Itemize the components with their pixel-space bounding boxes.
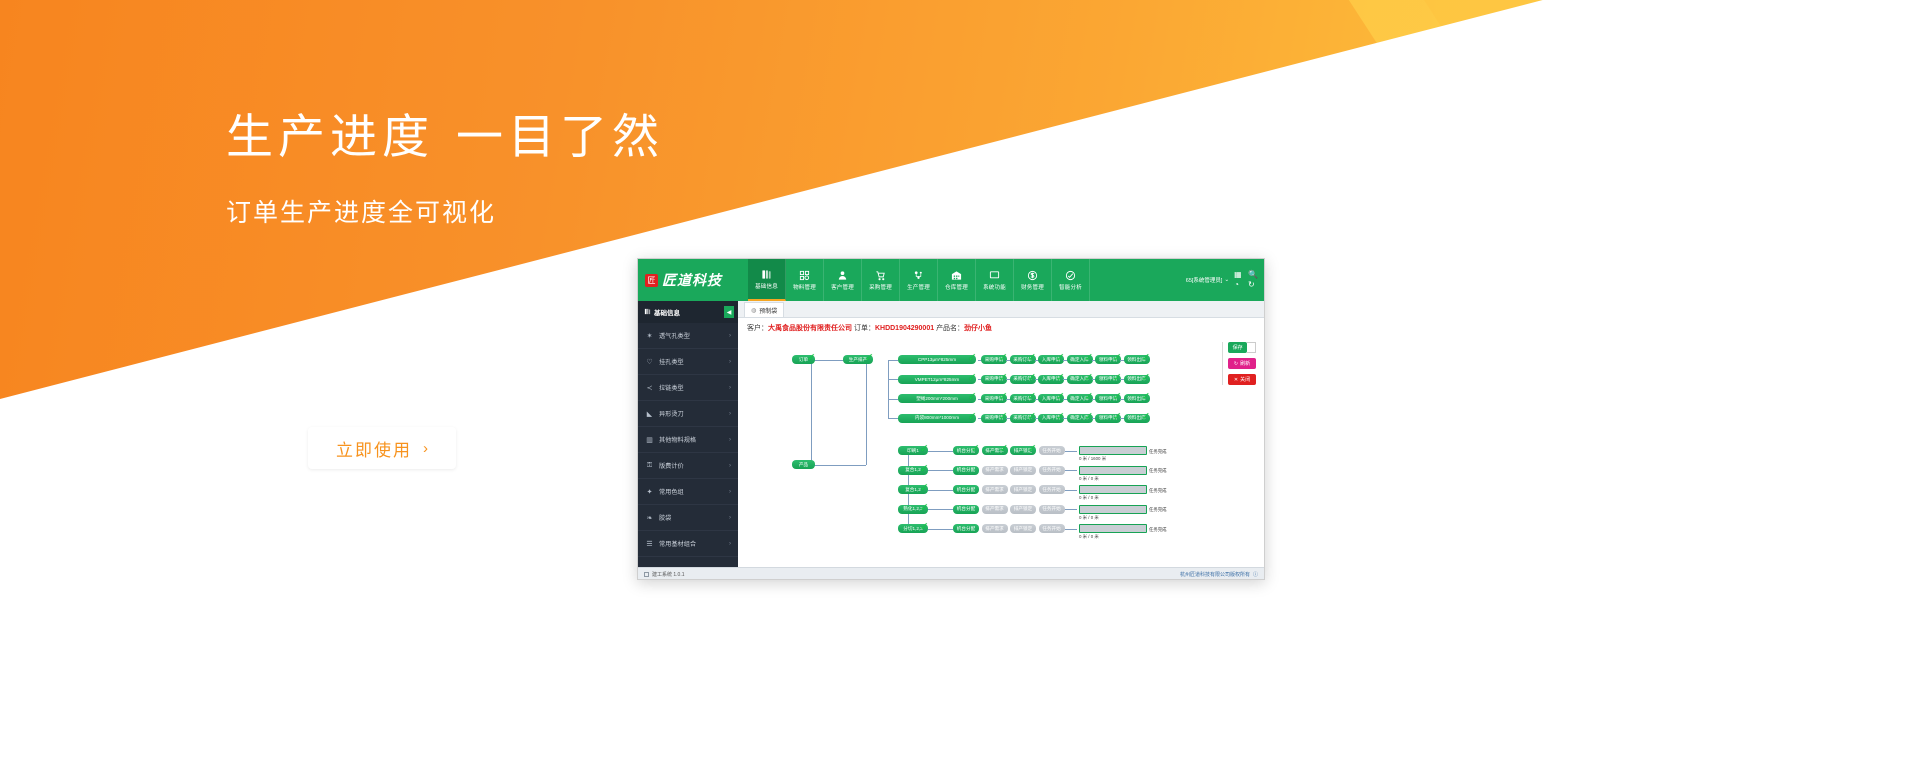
bars-icon: ▥ bbox=[645, 436, 654, 444]
flow-node-step[interactable]: 入库申请✓ bbox=[1038, 355, 1064, 364]
qrcode-icon[interactable]: ▦ bbox=[1234, 271, 1244, 279]
lock-icon: ⚿ bbox=[645, 462, 654, 470]
flow-node-label: 熟化1,2,3 bbox=[903, 506, 922, 512]
flow-node-label: 机台分配 bbox=[957, 487, 975, 493]
flow-edge bbox=[1065, 470, 1077, 471]
flow-node-label: 采购申请 bbox=[985, 415, 1003, 421]
flow-node-step[interactable]: 入库申请✓ bbox=[1038, 414, 1064, 423]
sidebar-item-lalianleixing[interactable]: ≺ 拉链类型 › bbox=[638, 375, 738, 401]
search-icon[interactable]: 🔍 bbox=[1248, 271, 1258, 279]
cta-label: 立即使用 bbox=[336, 436, 412, 461]
flow-node-label: 确定入库 bbox=[1070, 376, 1088, 382]
flow-node-step[interactable]: 排产需求✓ bbox=[982, 446, 1008, 455]
bag-icon: ❧ bbox=[645, 514, 654, 522]
flow-node-label: 产品 bbox=[799, 462, 808, 468]
flow-node-step[interactable]: 排产锁定 bbox=[1010, 524, 1036, 533]
flow-node-label: 机台分配 bbox=[957, 448, 975, 454]
nav-label: 采购管理 bbox=[869, 283, 892, 291]
flow-node-label: 排产锁定 bbox=[1014, 506, 1032, 512]
save-field[interactable] bbox=[1247, 342, 1256, 353]
check-icon: ✓ bbox=[920, 463, 929, 474]
check-icon: ✓ bbox=[968, 372, 977, 383]
flow-node-label: 领料出库 bbox=[1127, 357, 1145, 363]
flow-edge bbox=[908, 475, 909, 486]
flow-edge bbox=[928, 470, 953, 471]
progress-label: 0 米 / 0 米 bbox=[1079, 534, 1099, 540]
flow-node-step[interactable]: 任务开始 bbox=[1039, 485, 1065, 494]
chevron-down-icon: ⌄ bbox=[1224, 277, 1229, 283]
flow-node-label: 排产需求 bbox=[985, 506, 1003, 512]
flow-node-label: 内袋800mm*1000mm bbox=[915, 415, 959, 421]
close-icon: ✕ bbox=[1234, 377, 1238, 383]
status-bar: 建工系统 1.0.1 杭州匠道科技有限公司版权所有 ⓘ bbox=[638, 567, 1264, 580]
chevron-right-icon: › bbox=[729, 437, 731, 443]
nav-item-jichuxinxi[interactable]: 基础信息 bbox=[748, 259, 786, 301]
user-menu[interactable]: 65[系统管理员] ⌄ bbox=[1186, 276, 1229, 284]
blade-icon: ◣ bbox=[645, 410, 654, 418]
flow-node-label: 排产锁定 bbox=[1014, 526, 1032, 532]
nav-item-kehuguanli[interactable]: 客户管理 bbox=[824, 259, 862, 301]
flow-node-label: 入库申请 bbox=[1042, 376, 1060, 382]
task-status-label: 任务完成 bbox=[1149, 488, 1167, 494]
flow-node-label: 复合1,2 bbox=[905, 467, 921, 473]
flow-edge bbox=[888, 399, 898, 400]
nav-item-zhinengfenxi[interactable]: 智能分析 bbox=[1052, 259, 1090, 301]
user-name: 65[系统管理员] bbox=[1186, 276, 1223, 284]
app-icon bbox=[644, 572, 649, 577]
flow-node-label: 机台分配 bbox=[957, 506, 975, 512]
task-status-label: 任务完成 bbox=[1149, 507, 1167, 513]
close-label: 关闭 bbox=[1240, 376, 1250, 383]
flow-node-step[interactable]: 排产锁定✓ bbox=[1010, 446, 1036, 455]
flow-edge bbox=[811, 360, 812, 465]
flow-node-label: 入库申请 bbox=[1042, 396, 1060, 402]
flow-node-step[interactable]: 采购申请✓ bbox=[981, 355, 1007, 364]
check-icon: ✓ bbox=[968, 411, 977, 422]
sidebar-item-label: 常用基材组合 bbox=[659, 539, 696, 548]
hero-copy: 生产进度一目了然 订单生产进度全可视化 bbox=[226, 108, 664, 229]
cta-button[interactable]: 立即使用 › bbox=[308, 427, 456, 469]
sidebar-item-guakongleixing[interactable]: ♡ 挂孔类型 › bbox=[638, 349, 738, 375]
breadcrumb: 客户：大禹食品股份有限责任公司 订单：KHDD1904290001 产品名：劲仔… bbox=[738, 318, 1264, 336]
book-icon bbox=[761, 269, 772, 280]
nav-label: 系统功能 bbox=[983, 283, 1006, 291]
main-nav: 基础信息 物料管理 客户管理 采购管理 生产管理 bbox=[748, 259, 1090, 301]
flow-node-step[interactable]: 任务开始 bbox=[1039, 466, 1065, 475]
flow-node-label: 入库申请 bbox=[1042, 357, 1060, 363]
flow-node-step[interactable]: 排产锁定 bbox=[1010, 505, 1036, 514]
flow-node-label: 排产需求 bbox=[985, 448, 1003, 454]
grid-search-icon bbox=[799, 270, 810, 281]
flow-node-label: 确定入库 bbox=[1070, 415, 1088, 421]
palette-icon: ✦ bbox=[645, 488, 654, 496]
flow-node-label: 印刷1 bbox=[907, 448, 919, 454]
flow-node-step[interactable]: 排产需求 bbox=[982, 505, 1008, 514]
progress-bar bbox=[1079, 466, 1147, 475]
brand-name: 匠道科技 bbox=[662, 270, 722, 290]
zipper-icon: ≺ bbox=[645, 384, 654, 392]
refresh-button[interactable]: ↻ 刷新 bbox=[1228, 358, 1256, 369]
progress-label: 0 米 / 0 米 bbox=[1079, 515, 1099, 521]
flow-node-label: 排产锁定 bbox=[1014, 487, 1032, 493]
chevron-right-icon: › bbox=[729, 359, 731, 365]
flow-node-label: 机台分配 bbox=[957, 526, 975, 532]
flow-node-label: 任务开始 bbox=[1042, 467, 1060, 473]
flow-node-step[interactable]: 机台分配 bbox=[953, 466, 979, 475]
nav-label: 财务管理 bbox=[1021, 283, 1044, 291]
flow-edge bbox=[1065, 451, 1077, 452]
task-status-label: 任务完成 bbox=[1149, 449, 1167, 455]
flow-node-step[interactable]: 排产需求 bbox=[982, 466, 1008, 475]
flow-node-label: 领料出库 bbox=[1127, 376, 1145, 382]
flow-edge bbox=[1065, 509, 1077, 510]
nav-item-xitonggongneng[interactable]: 系统功能 bbox=[976, 259, 1014, 301]
sidebar-item-label: 拉链类型 bbox=[659, 383, 684, 392]
flow-node-material[interactable]: 内袋800mm*1000mm✓ bbox=[898, 414, 976, 423]
flow-canvas: 订单 ✓ 生产排产 ✓ 产品 CPP13μm*825mm✓采购申请✓采购订单✓入… bbox=[738, 336, 1264, 567]
flow-node-label: 领料申请 bbox=[1099, 396, 1117, 402]
progress-bar bbox=[1079, 524, 1147, 533]
flow-node-material[interactable]: VMPET12μm*825mm✓ bbox=[898, 375, 976, 384]
user-icon bbox=[837, 270, 848, 281]
flow-node-label: 任务开始 bbox=[1042, 487, 1060, 493]
flow-edge bbox=[866, 360, 867, 465]
progress-label: 0 米 / 1600 米 bbox=[1079, 456, 1106, 462]
flow-node-label: 采购申请 bbox=[985, 376, 1003, 382]
flow-node-label: 领料申请 bbox=[1099, 415, 1117, 421]
flow-node-step[interactable]: 领料申请✓ bbox=[1095, 394, 1121, 403]
flow-node-label: 采购申请 bbox=[985, 357, 1003, 363]
flow-node-label: 采购申请 bbox=[985, 396, 1003, 402]
progress-bar bbox=[1079, 505, 1147, 514]
flow-edge bbox=[908, 455, 909, 466]
sidebar-item-yixingtangdao[interactable]: ◣ 异形烫刀 › bbox=[638, 401, 738, 427]
flow-node-label: 领料申请 bbox=[1099, 376, 1117, 382]
flow-edge bbox=[928, 509, 953, 510]
flow-edge bbox=[928, 490, 953, 491]
status-right: 杭州匠道科技有限公司版权所有 ⓘ bbox=[1180, 571, 1258, 578]
flow-node-step[interactable]: 确定入库✓ bbox=[1067, 375, 1093, 384]
flow-node-step[interactable]: 排产需求 bbox=[982, 524, 1008, 533]
flow-node-label: 排产需求 bbox=[985, 526, 1003, 532]
status-left: 建工系统 1.0.1 bbox=[644, 571, 685, 578]
flow-node-label: 塑绳200mm*200mm bbox=[916, 396, 958, 402]
flow-node-process[interactable]: 复合1,2✓ bbox=[898, 485, 928, 494]
heart-icon: ♡ bbox=[645, 358, 654, 366]
flow-node-step[interactable]: 确定入库✓ bbox=[1067, 414, 1093, 423]
chevron-right-icon: › bbox=[729, 541, 731, 547]
flow-node-step[interactable]: 排产锁定 bbox=[1010, 485, 1036, 494]
sidebar-header: 基础信息 ◀ bbox=[638, 301, 738, 323]
flow-node-step[interactable]: 任务开始 bbox=[1039, 524, 1065, 533]
chevron-right-icon: › bbox=[729, 411, 731, 417]
flow-edge bbox=[888, 360, 898, 361]
sidebar-item-label: 异形烫刀 bbox=[659, 409, 684, 418]
sidebar-item-label: 胶袋 bbox=[659, 513, 671, 522]
dollar-icon bbox=[1027, 270, 1038, 281]
chevron-right-icon: › bbox=[729, 385, 731, 391]
flow-node-step[interactable]: 领料出库✓ bbox=[1124, 355, 1150, 364]
flow-node-label: 领料出库 bbox=[1127, 415, 1145, 421]
flow-node-step[interactable]: 排产锁定 bbox=[1010, 466, 1036, 475]
flow-node-step[interactable]: 任务开始 bbox=[1039, 505, 1065, 514]
flow-node-label: 订单 bbox=[799, 357, 808, 363]
flow-node-process[interactable]: 印刷1✓ bbox=[898, 446, 928, 455]
save-row: 保存 bbox=[1228, 342, 1256, 353]
app-window: 匠 匠道科技 基础信息 物料管理 客户管理 采购管理 bbox=[637, 258, 1265, 580]
warehouse-icon bbox=[951, 270, 962, 281]
sidebar-item-banfeijijia[interactable]: ⚿ 版费计价 › bbox=[638, 453, 738, 479]
flow-node-label: 任务开始 bbox=[1042, 506, 1060, 512]
product-label: 产品名： bbox=[936, 325, 964, 332]
layers-icon: ☰ bbox=[645, 540, 654, 548]
flow-node-label: 采购订单 bbox=[1013, 415, 1031, 421]
page-subtitle: 订单生产进度全可视化 bbox=[226, 193, 664, 229]
flow-node-label: 入库申请 bbox=[1042, 415, 1060, 421]
flow-edge bbox=[928, 451, 953, 452]
flow-node-label: 确定入库 bbox=[1070, 357, 1088, 363]
flow-edge bbox=[811, 360, 847, 361]
top-bar-right: 65[系统管理员] ⌄ ▦ 🔍 ◔ ↻ bbox=[1186, 259, 1264, 301]
flow-node-product[interactable]: 产品 bbox=[792, 460, 815, 469]
flow-node-label: 任务开始 bbox=[1042, 526, 1060, 532]
flow-node-label: 采购订单 bbox=[1013, 376, 1031, 382]
hero-banner: 生产进度一目了然 订单生产进度全可视化 立即使用 › 匠 匠道科技 基础信息 物… bbox=[0, 0, 1920, 779]
check-icon: ✓ bbox=[968, 391, 977, 402]
close-button[interactable]: ✕ 关闭 bbox=[1228, 374, 1256, 385]
circle-icon: ◍ bbox=[751, 307, 756, 314]
chevron-right-icon: › bbox=[729, 463, 731, 469]
main-content: ◍ 预制袋 客户：大禹食品股份有限责任公司 订单：KHDD1904290001 … bbox=[738, 301, 1264, 567]
flow-node-step[interactable]: 入库申请✓ bbox=[1038, 394, 1064, 403]
progress-label: 0 米 / 0 米 bbox=[1079, 476, 1099, 482]
progress-bar bbox=[1079, 485, 1147, 494]
flow-node-step[interactable]: 领料出库✓ bbox=[1124, 414, 1150, 423]
nav-label: 客户管理 bbox=[831, 283, 854, 291]
flow-node-label: 确定入库 bbox=[1070, 396, 1088, 402]
flow-node-label: 排产需求 bbox=[985, 467, 1003, 473]
flow-node-label: 分切1,2,3 bbox=[903, 526, 922, 532]
flow-node-step[interactable]: 机台分配✓ bbox=[953, 446, 979, 455]
sidebar-item-touqikongleixing[interactable]: ✶ 透气孔类型 › bbox=[638, 323, 738, 349]
customer-label: 客户： bbox=[747, 325, 768, 332]
copyright-text: 杭州匠道科技有限公司版权所有 bbox=[1180, 571, 1250, 578]
flow-node-step[interactable]: 领料申请✓ bbox=[1095, 375, 1121, 384]
flow-node-step[interactable]: 采购申请✓ bbox=[981, 414, 1007, 423]
flow-node-label: 排产需求 bbox=[985, 487, 1003, 493]
flow-node-plan[interactable]: 生产排产 ✓ bbox=[843, 355, 873, 364]
flow-node-step[interactable]: 排产需求 bbox=[982, 485, 1008, 494]
nav-label: 物料管理 bbox=[793, 283, 816, 291]
gear-nodes-icon bbox=[913, 270, 924, 281]
status-version: 建工系统 1.0.1 bbox=[652, 571, 685, 578]
flow-node-step[interactable]: 采购订单✓ bbox=[1010, 355, 1036, 364]
flow-edge bbox=[888, 418, 898, 419]
flow-edge bbox=[928, 529, 953, 530]
check-icon: ✓ bbox=[920, 482, 929, 493]
flow-node-step[interactable]: 采购申请✓ bbox=[981, 375, 1007, 384]
flow-node-order[interactable]: 订单 ✓ bbox=[792, 355, 815, 364]
save-button[interactable]: 保存 bbox=[1228, 342, 1247, 353]
nav-item-cangkuguanli[interactable]: 仓库管理 bbox=[938, 259, 976, 301]
refresh-label: 刷新 bbox=[1240, 360, 1250, 367]
dot-icon: ✶ bbox=[645, 332, 654, 340]
flow-node-step[interactable]: 采购订单✓ bbox=[1010, 375, 1036, 384]
flow-edge bbox=[1065, 529, 1077, 530]
flow-node-step[interactable]: 采购订单✓ bbox=[1010, 394, 1036, 403]
chevron-right-icon: › bbox=[729, 489, 731, 495]
nav-item-shengchanguanli[interactable]: 生产管理 bbox=[900, 259, 938, 301]
task-status-label: 任务完成 bbox=[1149, 527, 1167, 533]
sidebar: 基础信息 ◀ ✶ 透气孔类型 › ♡ 挂孔类型 › ≺ 拉链类型 › bbox=[638, 301, 738, 567]
nav-item-caigouguanli[interactable]: 采购管理 bbox=[862, 259, 900, 301]
nav-label: 生产管理 bbox=[907, 283, 930, 291]
flow-node-label: 领料出库 bbox=[1127, 396, 1145, 402]
chevron-right-icon: › bbox=[729, 515, 731, 521]
cart-icon bbox=[875, 270, 886, 281]
refresh-icon: ↻ bbox=[1234, 361, 1238, 367]
flow-node-step[interactable]: 机台分配 bbox=[953, 485, 979, 494]
order-label: 订单： bbox=[854, 325, 875, 332]
app-body: 基础信息 ◀ ✶ 透气孔类型 › ♡ 挂孔类型 › ≺ 拉链类型 › bbox=[638, 301, 1264, 567]
flow-node-step[interactable]: 领料出库✓ bbox=[1124, 375, 1150, 384]
flow-node-step[interactable]: 机台分配 bbox=[953, 505, 979, 514]
flow-node-label: 采购订单 bbox=[1013, 357, 1031, 363]
flow-node-process[interactable]: 复合1,2✓ bbox=[898, 466, 928, 475]
nav-label: 智能分析 bbox=[1059, 283, 1082, 291]
refresh-icon[interactable]: ↻ bbox=[1248, 281, 1258, 289]
flow-node-label: 排产锁定 bbox=[1014, 448, 1032, 454]
info-icon[interactable]: ⓘ bbox=[1253, 571, 1258, 578]
sidebar-item-qitawuliaoguige[interactable]: ▥ 其他物料规格 › bbox=[638, 427, 738, 453]
flow-node-label: 机台分配 bbox=[957, 467, 975, 473]
flow-node-step[interactable]: 确定入库✓ bbox=[1067, 355, 1093, 364]
sidebar-item-label: 常用色组 bbox=[659, 487, 684, 496]
sidebar-collapse-button[interactable]: ◀ bbox=[724, 306, 734, 318]
flow-node-label: 任务开始 bbox=[1042, 448, 1060, 454]
sidebar-item-label: 挂孔类型 bbox=[659, 357, 684, 366]
progress-bar bbox=[1079, 446, 1147, 455]
sidebar-title: 基础信息 bbox=[654, 307, 680, 317]
monitor-icon bbox=[989, 270, 1000, 281]
customer-value: 大禹食品股份有限责任公司 bbox=[768, 325, 852, 332]
page-title: 生产进度一目了然 bbox=[226, 108, 664, 167]
flow-edge bbox=[1065, 490, 1077, 491]
flow-node-process[interactable]: 熟化1,2,3✓ bbox=[898, 505, 928, 514]
sidebar-item-jiaodai[interactable]: ❧ 胶袋 › bbox=[638, 505, 738, 531]
nav-label: 仓库管理 bbox=[945, 283, 968, 291]
flow-edge bbox=[888, 379, 898, 380]
chart-check-icon bbox=[1065, 270, 1076, 281]
progress-label: 0 米 / 0 米 bbox=[1079, 495, 1099, 501]
top-icon-group: ▦ 🔍 ◔ ↻ bbox=[1234, 271, 1258, 289]
flow-node-step[interactable]: 入库申请✓ bbox=[1038, 375, 1064, 384]
check-icon: ✓ bbox=[968, 352, 977, 363]
tab-bar: ◍ 预制袋 bbox=[738, 301, 1264, 318]
flow-node-step[interactable]: 任务开始 bbox=[1039, 446, 1065, 455]
flow-edge bbox=[811, 465, 866, 466]
nav-item-wuliaoguanli[interactable]: 物料管理 bbox=[786, 259, 824, 301]
sidebar-item-label: 其他物料规格 bbox=[659, 435, 696, 444]
chevron-right-icon: › bbox=[423, 440, 428, 457]
check-icon: ✓ bbox=[807, 352, 816, 363]
flow-node-label: VMPET12μm*825mm bbox=[915, 377, 960, 382]
flow-node-label: 采购订单 bbox=[1013, 396, 1031, 402]
task-status-label: 任务完成 bbox=[1149, 468, 1167, 474]
order-value: KHDD1904290001 bbox=[875, 325, 934, 332]
brand-logo: 匠 匠道科技 bbox=[638, 259, 748, 301]
flow-node-step[interactable]: 采购订单✓ bbox=[1010, 414, 1036, 423]
action-panel: 保存 ↻ 刷新 ✕ 关闭 bbox=[1222, 342, 1256, 385]
nav-item-caiwuguanli[interactable]: 财务管理 bbox=[1014, 259, 1052, 301]
flow-node-step[interactable]: 领料出库✓ bbox=[1124, 394, 1150, 403]
book-icon bbox=[644, 308, 651, 317]
check-icon: ✓ bbox=[920, 443, 929, 454]
flow-node-label: 领料申请 bbox=[1099, 357, 1117, 363]
chevron-right-icon: › bbox=[729, 333, 731, 339]
flow-node-label: 生产排产 bbox=[849, 357, 867, 363]
flow-node-step[interactable]: 领料申请✓ bbox=[1095, 414, 1121, 423]
flow-node-label: CPP13μm*825mm bbox=[918, 357, 956, 362]
flow-node-step[interactable]: 领料申请✓ bbox=[1095, 355, 1121, 364]
flow-node-step[interactable]: 机台分配 bbox=[953, 524, 979, 533]
headline-part-1: 生产进度 bbox=[226, 110, 434, 163]
flow-edge bbox=[888, 360, 889, 418]
flow-edge bbox=[908, 514, 909, 525]
product-value: 劲仔小鱼 bbox=[964, 325, 992, 332]
flow-node-process[interactable]: 分切1,2,3✓ bbox=[898, 524, 928, 533]
brand-mark-icon: 匠 bbox=[645, 274, 658, 287]
nav-label: 基础信息 bbox=[755, 282, 778, 290]
flow-edge bbox=[908, 494, 909, 505]
tab-yuzhidai[interactable]: ◍ 预制袋 bbox=[744, 302, 784, 317]
sidebar-item-label: 透气孔类型 bbox=[659, 331, 690, 340]
tab-label: 预制袋 bbox=[759, 306, 777, 315]
sidebar-item-label: 版费计价 bbox=[659, 461, 684, 470]
sidebar-item-changyongjicaizuhe[interactable]: ☰ 常用基材组合 › bbox=[638, 531, 738, 557]
flow-node-step[interactable]: 采购申请✓ bbox=[981, 394, 1007, 403]
flow-node-label: 排产锁定 bbox=[1014, 467, 1032, 473]
flow-node-material[interactable]: 塑绳200mm*200mm✓ bbox=[898, 394, 976, 403]
headline-part-2: 一目了然 bbox=[456, 110, 664, 163]
sidebar-item-changyongsezu[interactable]: ✦ 常用色组 › bbox=[638, 479, 738, 505]
flow-node-step[interactable]: 确定入库✓ bbox=[1067, 394, 1093, 403]
flow-node-material[interactable]: CPP13μm*825mm✓ bbox=[898, 355, 976, 364]
globe-icon[interactable]: ◔ bbox=[1234, 281, 1244, 289]
app-top-bar: 匠 匠道科技 基础信息 物料管理 客户管理 采购管理 bbox=[638, 259, 1264, 301]
flow-node-label: 复合1,2 bbox=[905, 487, 921, 493]
